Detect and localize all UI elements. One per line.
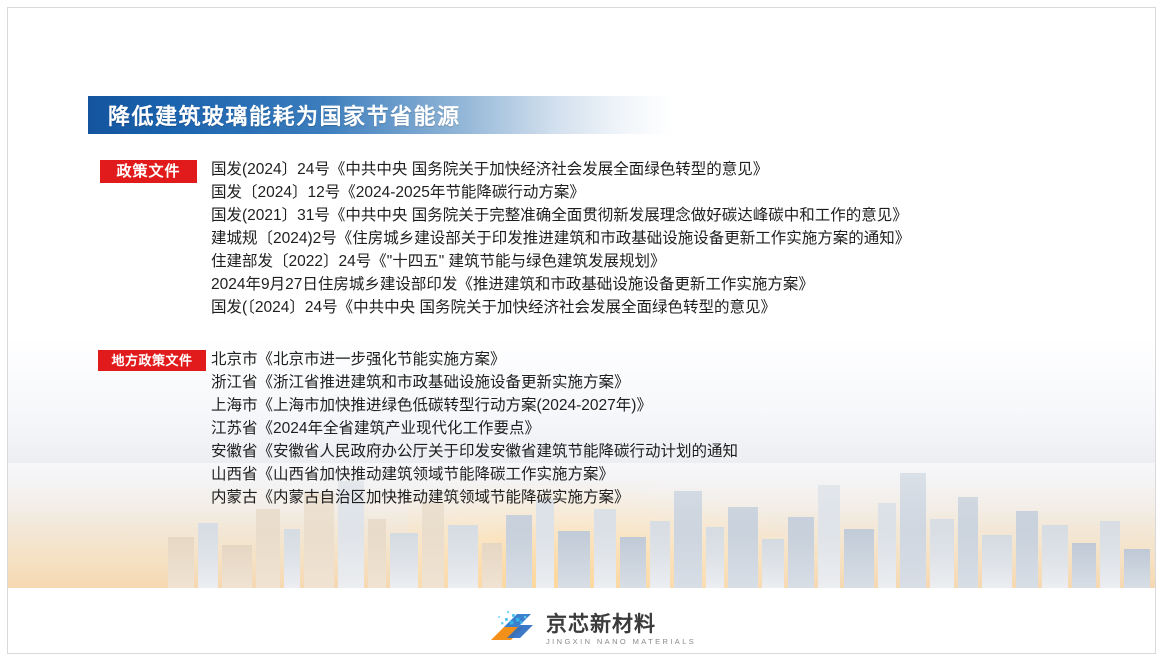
slide-canvas: 降低建筑玻璃能耗为国家节省能源 政策文件 国发(2024〕24号《中共中央 国务… — [7, 7, 1156, 654]
list-item: 国发〔2024〕12号《2024-2025年节能降碳行动方案》 — [211, 181, 910, 204]
list-item: 国发(2021〕31号《中共中央 国务院关于完整准确全面贯彻新发展理念做好碳达峰… — [211, 204, 910, 227]
logo-name-en: JINGXIN NANO MATERIALS — [546, 636, 696, 647]
list-item: 江苏省《2024年全省建筑产业现代化工作要点》 — [211, 417, 738, 440]
section-badge-policy: 政策文件 — [100, 160, 197, 183]
list-item: 建城规〔2024)2号《住房城乡建设部关于印发推进建筑和市政基础设施设备更新工作… — [211, 227, 910, 250]
list-item: 国发(〔2024〕24号《中共中央 国务院关于加快经济社会发展全面绿色转型的意见… — [211, 296, 910, 319]
slide-title-banner: 降低建筑玻璃能耗为国家节省能源 — [88, 96, 673, 134]
list-item: 2024年9月27日住房城乡建设部印发《推进建筑和市政基础设施设备更新工作实施方… — [211, 273, 910, 296]
list-item: 山西省《山西省加快推动建筑领域节能降碳工作实施方案》 — [211, 463, 738, 486]
page-title: 降低建筑玻璃能耗为国家节省能源 — [108, 99, 461, 131]
logo-wordmark: 京芯新材料 JINGXIN NANO MATERIALS — [546, 613, 696, 647]
local-policy-document-list: 北京市《北京市进一步强化节能实施方案》 浙江省《浙江省推进建筑和市政基础设施设备… — [211, 348, 738, 509]
section-badge-local-policy: 地方政策文件 — [98, 350, 206, 371]
list-item: 住建部发〔2022〕24号《"十四五" 建筑节能与绿色建筑发展规划》 — [211, 250, 910, 273]
jingxin-logo-icon — [487, 610, 537, 650]
company-logo: 京芯新材料 JINGXIN NANO MATERIALS — [487, 608, 667, 652]
list-item: 内蒙古《内蒙古自治区加快推动建筑领域节能降碳实施方案》 — [211, 486, 738, 509]
list-item: 浙江省《浙江省推进建筑和市政基础设施设备更新实施方案》 — [211, 371, 738, 394]
logo-name-cn: 京芯新材料 — [546, 613, 696, 636]
policy-document-list: 国发(2024〕24号《中共中央 国务院关于加快经济社会发展全面绿色转型的意见》… — [211, 158, 910, 319]
list-item: 北京市《北京市进一步强化节能实施方案》 — [211, 348, 738, 371]
list-item: 国发(2024〕24号《中共中央 国务院关于加快经济社会发展全面绿色转型的意见》 — [211, 158, 910, 181]
list-item: 上海市《上海市加快推进绿色低碳转型行动方案(2024-2027年)》 — [211, 394, 738, 417]
list-item: 安徽省《安徽省人民政府办公厅关于印发安徽省建筑节能降碳行动计划的通知 — [211, 440, 738, 463]
